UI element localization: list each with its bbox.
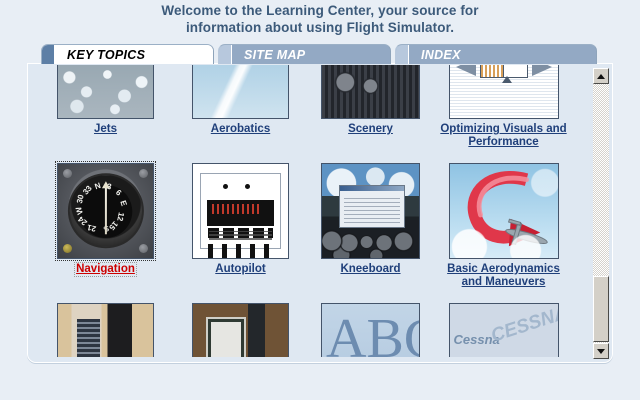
triangle-right-icon (532, 65, 552, 76)
topic-link-basic-aerodynamics[interactable]: Basic Aerodynamics and Maneuvers (436, 263, 571, 289)
desk-computer-image (193, 304, 288, 357)
topic-link-scenery[interactable]: Scenery (303, 123, 438, 136)
jets-thumbnail[interactable] (57, 65, 154, 119)
topic-cell-row3-4[interactable]: Cessna BOEING CESSNA (436, 303, 571, 357)
tab-index-label: INDEX (409, 45, 596, 64)
tab-spine (219, 45, 232, 64)
cockpit-kneeboard-image (322, 164, 419, 258)
callout-dot-icon (223, 184, 228, 189)
scrollbar-thumb[interactable] (593, 276, 609, 342)
topic-cell-basic-aerodynamics[interactable]: Basic Aerodynamics and Maneuvers (436, 163, 571, 289)
screw-icon (139, 244, 148, 253)
tab-bar: INDEX SITE MAP KEY TOPICS (41, 44, 597, 64)
topic-link-optimizing-visuals[interactable]: Optimizing Visuals and Performance (436, 123, 571, 149)
welcome-header-line-2: information about using Flight Simulator… (0, 19, 640, 36)
scroll-down-button[interactable] (593, 343, 609, 359)
autopilot-thumbnail[interactable] (192, 163, 289, 259)
logo-cessna-watermark-text: CESSNA (488, 303, 558, 348)
smoke-trail-sky-image (193, 65, 288, 118)
instrument-panel-image (322, 65, 419, 118)
slider-figure (456, 65, 552, 82)
topics-grid: Jets Aerobatics Scenery (31, 65, 593, 357)
aircraft-logos-thumbnail[interactable]: Cessna BOEING CESSNA (449, 303, 559, 357)
scroll-down-arrow-icon (597, 349, 605, 354)
welcome-header: Welcome to the Learning Center, your sou… (0, 2, 640, 36)
welcome-header-line-1: Welcome to the Learning Center, your sou… (0, 2, 640, 19)
kneeboard-dialog (339, 185, 405, 228)
learning-center-screen: Welcome to the Learning Center, your sou… (0, 0, 640, 400)
topic-cell-jets[interactable]: Jets (38, 65, 173, 136)
compass-tick-label: 6 (113, 188, 122, 198)
topics-scrollbar[interactable] (593, 68, 609, 359)
compass-needle-icon (105, 185, 107, 234)
topic-cell-row3-1[interactable] (38, 303, 173, 357)
triangle-left-icon (456, 65, 476, 76)
tab-index[interactable]: INDEX (395, 44, 597, 64)
autopilot-callout-row (208, 244, 273, 258)
compass-tick-label: 30 (74, 194, 85, 205)
slider-diagram-image (450, 65, 558, 118)
key-topics-panel: Jets Aerobatics Scenery (27, 63, 613, 363)
clouds-sky-image (58, 65, 153, 118)
aerodynamics-arrow-image (450, 164, 558, 258)
compass-bezel: N36E1215S2124W3033 (67, 173, 143, 248)
kneeboard-thumbnail[interactable] (321, 163, 420, 259)
screw-icon (139, 169, 148, 178)
scenery-thumbnail[interactable] (321, 65, 420, 119)
topics-row: Jets Aerobatics Scenery (31, 65, 593, 163)
topic-link-kneeboard[interactable]: Kneeboard (303, 263, 438, 276)
topics-viewport: Jets Aerobatics Scenery (31, 65, 593, 357)
topics-row: N36E1215S2124W3033 Navigation (31, 163, 593, 303)
topic-cell-optimizing-visuals[interactable]: Optimizing Visuals and Performance (436, 65, 571, 149)
sky-clouds (450, 164, 558, 258)
compass-tick-label: N (93, 181, 101, 191)
scroll-up-button[interactable] (593, 68, 609, 84)
autopilot-display-strip (207, 200, 274, 226)
topic-cell-row3-3[interactable]: ABC (303, 303, 438, 357)
topic-cell-scenery[interactable]: Scenery (303, 65, 438, 136)
tab-key-topics-label: KEY TOPICS (55, 45, 213, 64)
abc-letters-image: ABC (322, 304, 419, 357)
topic-cell-aerobatics[interactable]: Aerobatics (173, 65, 308, 136)
slider-knob-icon (502, 76, 512, 83)
tab-spine (42, 45, 55, 64)
autopilot-panel-image (193, 164, 288, 258)
navigation-thumbnail[interactable]: N36E1215S2124W3033 (57, 163, 154, 259)
topic-link-autopilot[interactable]: Autopilot (173, 263, 308, 276)
screw-icon (63, 169, 72, 178)
glossary-thumbnail[interactable]: ABC (321, 303, 420, 357)
compass-gauge-image: N36E1215S2124W3033 (58, 164, 153, 258)
desk-radio-rack-image (58, 304, 153, 357)
topics-row: ABC Cessna BOEING CESSNA (31, 303, 593, 357)
topic-link-navigation[interactable]: Navigation (75, 263, 136, 276)
aerobatics-thumbnail[interactable] (192, 65, 289, 119)
screw-icon (63, 244, 72, 253)
tab-site-map[interactable]: SITE MAP (218, 44, 391, 64)
tab-site-map-label: SITE MAP (232, 45, 390, 64)
compass-tick-label: E (118, 200, 128, 208)
desk-computer-thumbnail[interactable] (192, 303, 289, 357)
compass-tick-label: 21 (86, 223, 97, 234)
topic-cell-kneeboard[interactable]: Kneeboard (303, 163, 438, 276)
optimizing-visuals-thumbnail[interactable] (449, 65, 559, 119)
autopilot-caption-lines (209, 231, 272, 240)
scroll-up-arrow-icon (597, 74, 605, 79)
callout-dot-icon (245, 184, 250, 189)
basic-aerodynamics-thumbnail[interactable] (449, 163, 559, 259)
tab-key-topics[interactable]: KEY TOPICS (41, 44, 214, 64)
desk-radio-rack-thumbnail[interactable] (57, 303, 154, 357)
compass-tick-label: 12 (115, 212, 126, 223)
topic-cell-row3-2[interactable] (173, 303, 308, 357)
tab-spine (396, 45, 409, 64)
topic-cell-navigation[interactable]: N36E1215S2124W3033 Navigation (38, 163, 173, 277)
topic-cell-autopilot[interactable]: Autopilot (173, 163, 308, 276)
autopilot-figure-frame (200, 173, 281, 249)
topic-link-aerobatics[interactable]: Aerobatics (173, 123, 308, 136)
topic-link-jets[interactable]: Jets (38, 123, 173, 136)
